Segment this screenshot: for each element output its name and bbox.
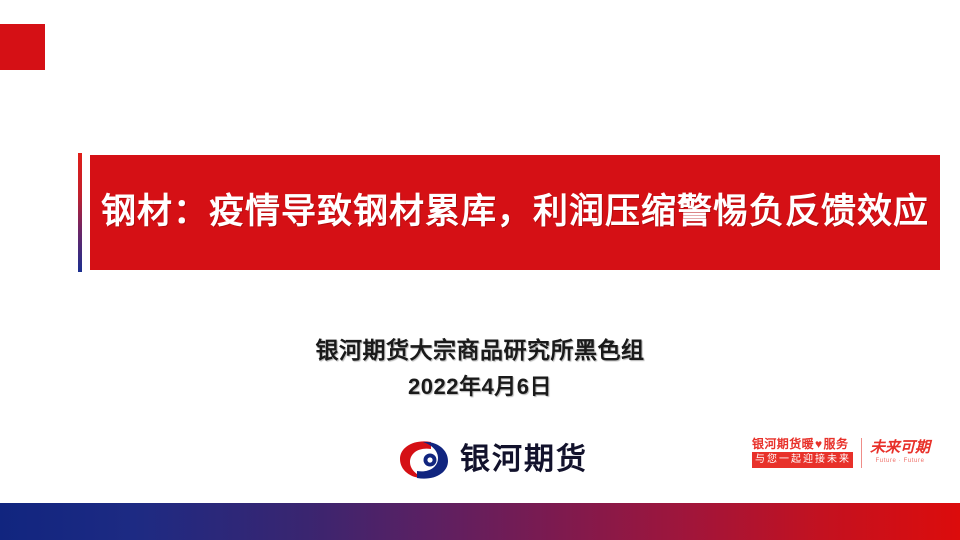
bottom-gradient-band <box>0 503 960 540</box>
company-logo-text: 银河期货 <box>460 445 588 475</box>
slide-canvas: 钢材：疫情导致钢材累库，利润压缩警惕负反馈效应 银河期货大宗商品研究所黑色组 2… <box>0 0 960 540</box>
company-logo: 银河期货 <box>398 438 588 482</box>
galaxy-swirl-logo-icon <box>398 438 450 482</box>
slogan-divider <box>861 438 862 468</box>
title-accent-gradient-bar <box>78 153 82 272</box>
title-banner: 钢材：疫情导致钢材累库，利润压缩警惕负反馈效应 <box>90 155 940 270</box>
heart-icon: ♥ <box>815 437 823 452</box>
top-left-accent-block <box>0 24 45 70</box>
page-title: 钢材：疫情导致钢材累库，利润压缩警惕负反馈效应 <box>101 193 929 232</box>
slogan-line-primary: 银河期货暖 ♥ 服务 <box>752 437 853 452</box>
slogan-future-en: Future · Future <box>876 457 925 466</box>
subtitle-organization: 银河期货大宗商品研究所黑色组 <box>0 335 960 365</box>
slogan-right-block: 未来可期 Future · Future <box>870 439 930 466</box>
slogan-line-secondary: 与您一起迎接未来 <box>752 452 853 468</box>
subtitle-block: 银河期货大宗商品研究所黑色组 2022年4月6日 <box>0 335 960 402</box>
service-slogan-badge: 银河期货暖 ♥ 服务 与您一起迎接未来 未来可期 Future · Future <box>752 437 930 468</box>
slogan-prefix-text: 银河期货暖 <box>752 437 814 452</box>
title-group: 钢材：疫情导致钢材累库，利润压缩警惕负反馈效应 <box>78 153 940 272</box>
slogan-future-cn: 未来可期 <box>870 439 930 457</box>
subtitle-date: 2022年4月6日 <box>0 372 960 402</box>
slogan-suffix-text: 服务 <box>824 437 849 452</box>
slogan-left-block: 银河期货暖 ♥ 服务 与您一起迎接未来 <box>752 437 853 468</box>
